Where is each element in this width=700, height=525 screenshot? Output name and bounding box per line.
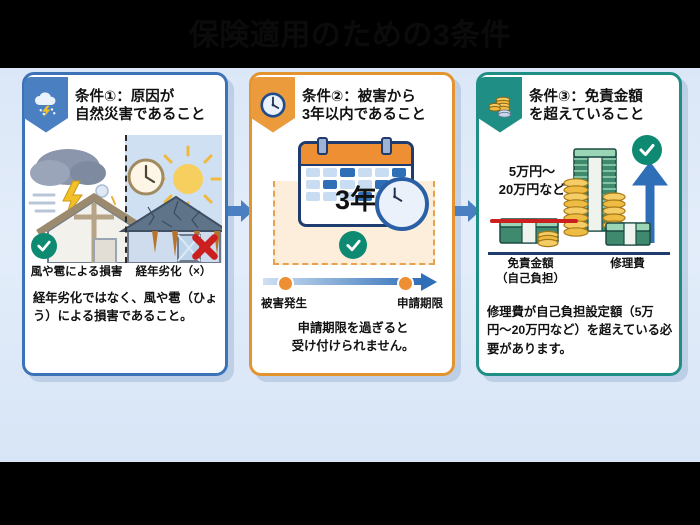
storm-cloud-icon [24,77,68,133]
label-bad: 経年劣化（×） [125,263,222,279]
condition-panel-1[interactable]: 条件①：原因が 自然災害であること [22,72,228,376]
timeline [263,273,443,289]
infographic-stage: 保険適用のための3条件 条件①：原因が 自然災害であること [0,0,700,525]
panel-note: 経年劣化ではなく、風や雹（ひょう）による損害であること。 [33,289,219,326]
panel-header: 条件②：被害から 3年以内であること [252,75,452,137]
condition-panel-2[interactable]: 条件②：被害から 3年以内であること 3年 [249,72,455,376]
timeline-label-end: 申請期限 [397,295,443,311]
comparison-divider [125,135,127,263]
condition-panel-3[interactable]: 条件③：免責金額 を超えていること 5万円〜 20万円など [476,72,682,376]
panel-body: 3年 [252,137,452,375]
timeline-dot-end [397,275,414,292]
baseline [488,252,670,255]
clock-icon [251,77,295,133]
panel-heading: 条件①：原因が 自然災害であること [75,88,205,124]
timeline-dot-start [277,275,294,292]
coins-icon [478,77,522,133]
clock-icon-small [375,177,429,231]
panel-body: 5万円〜 20万円など [479,137,679,375]
three-year-deadline-illustration: 3年 [255,133,449,283]
label-good: 風や雹による損害 [28,263,125,279]
panel-header: 条件③：免責金額 を超えていること [479,75,679,137]
comparison-labels: 風や雹による損害 経年劣化（×） [28,263,222,279]
letterbox-bottom [0,462,700,525]
panel-note: 申請期限を過ぎると 受け付けられません。 [260,319,446,356]
panel-heading: 条件②：被害から 3年以内であること [302,88,426,124]
timeline-label-start: 被害発生 [261,295,307,311]
cross-icon [191,233,219,261]
timeline-labels: 被害発生 申請期限 [255,295,449,311]
panel-header: 条件①：原因が 自然災害であること [25,75,225,137]
check-icon [339,231,367,259]
bar-labels: 免責金額 （自己負担） 修理費 [482,257,676,287]
page-title: 保険適用のための3条件 [0,10,700,54]
check-icon [31,233,57,259]
label-deductible: 免責金額 （自己負担） [482,257,579,287]
panel-heading: 条件③：免責金額 を超えていること [529,88,644,124]
label-repair-cost: 修理費 [579,257,676,287]
panel-note: 修理費が自己負担設定額（5万円〜20万円など）を超えている必要があります。 [487,303,673,358]
deductible-threshold-line [490,219,578,223]
check-icon [632,135,662,165]
panel-body: 風や雹による損害 経年劣化（×） 経年劣化ではなく、風や雹（ひょう）による損害で… [25,137,225,375]
